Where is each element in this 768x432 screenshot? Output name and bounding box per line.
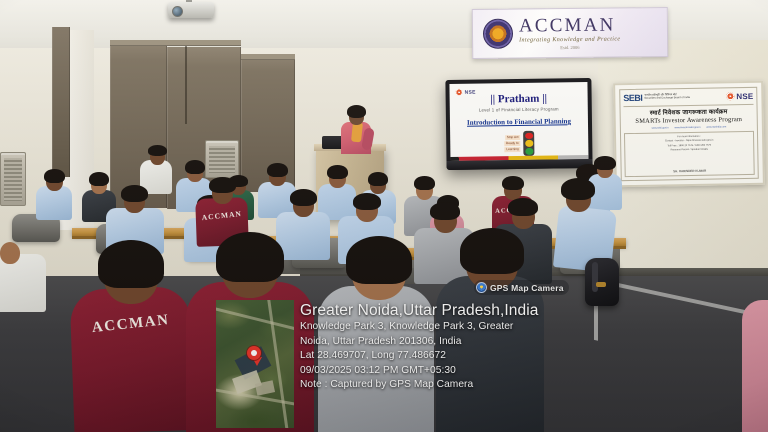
poster-link-2: www.investor.sebi.gov.in [675,126,701,129]
foreground-hair [216,232,284,282]
attendee-hair [368,172,388,186]
foreground-hair [460,228,524,274]
attendee-hair [508,198,538,216]
attendee-hair [414,176,435,190]
attendee-torso [36,186,72,220]
backpack-strap [592,262,598,292]
poster-frame: SEBI भारतीय प्रतिभूति और विनिमय बोर्ड Se… [619,87,759,181]
blind-headrail-1 [110,40,241,46]
ac-grille [4,158,22,201]
attendee-hair [594,156,616,170]
gps-coordinates: Lat 28.469707, Long 77.486672 [300,349,720,363]
slide-subtitle: Level 1 of Financial Literacy Program [450,106,588,113]
foreground-jersey-left: ACCMAN [70,286,195,432]
jersey-accman-text: ACCMAN [70,310,191,339]
gps-map-camera-photo: ACCMAN Integrating Knowledge and Practic… [0,0,768,432]
traffic-light-label-3: Learning [504,147,520,152]
window-ac-unit-right [205,140,239,178]
attendee-hair [121,185,148,202]
sebi-wordmark: SEBI [623,93,642,103]
sebi-sublabel-english: Securities and Exchange Board of India [644,97,690,100]
attendee-torso [276,212,330,260]
gps-badge-label: GPS Map Camera [490,283,564,293]
window-ac-unit-left [0,152,26,206]
accman-banner-established: Estd. 2006 [519,45,620,51]
attendee-hair [44,169,65,183]
sebi-sublabel: भारतीय प्रतिभूति और विनिमय बोर्ड Securit… [644,94,690,100]
traffic-light-green [525,148,533,155]
backpack-buckle [596,282,606,287]
poster-links: www.sebi.gov.in www.investor.sebi.gov.in… [652,125,727,129]
attendee-hair [327,165,348,179]
traffic-light-label-1: Stop Act [505,135,521,140]
nse-logo-icon [726,92,734,100]
foreground-torso-right-edge [742,300,768,432]
slide-screen: NSE || Pratham || Level 1 of Financial L… [449,82,588,161]
nse-logo: NSE [726,91,753,100]
gps-address-line-2: Noida, Uttar Pradesh 201306, India [300,335,720,349]
poster-link-3: www.nseindia.com [706,125,726,128]
gps-place-name: Greater Noida,Uttar Pradesh,India [300,302,720,319]
traffic-light-labels: Stop Act Ready to Learning [504,135,521,153]
foreground-hair [346,236,412,284]
attendee-hair [267,163,288,177]
attendee-hair [290,189,317,206]
sebi-logo: SEBI भारतीय प्रतिभूति और विनिमय बोर्ड Se… [623,92,690,103]
roller-blind-far [52,27,70,177]
poster-title-english: SMARTs Investor Awareness Program [635,116,742,125]
accman-banner-title: ACCMAN [519,15,621,35]
attendee-hair [185,160,205,174]
presentation-display: NSE || Pratham || Level 1 of Financial L… [445,78,592,170]
ac-grille [209,146,235,173]
nse-wordmark: NSE [736,91,753,100]
jersey-accman-text: ACCMAN [195,208,248,222]
foreground-hair [98,240,164,288]
poster-divider [623,103,753,106]
attendee-hair [561,178,595,200]
poster-logos: SEBI भारतीय प्रतिभूति और विनिमय बोर्ड Se… [623,91,753,103]
gps-map-camera-badge: GPS Map Camera [474,280,569,295]
accman-banner-tagline: Integrating Knowledge and Practice [519,36,620,43]
poster-details-box: For more information : Contact - Investo… [624,130,755,177]
sebi-nse-poster: SEBI भारतीय प्रतिभूति और विनिमय बोर्ड Se… [613,81,765,188]
traffic-light-red [525,132,533,139]
map-pin-center [251,350,257,356]
accman-banner: ACCMAN Integrating Knowledge and Practic… [472,7,669,59]
slide-title: || Pratham || [450,92,588,106]
traffic-light-yellow [525,140,533,147]
gps-overlay-text: Greater Noida,Uttar Pradesh,India Knowle… [300,302,720,393]
attendee-hair [502,176,524,190]
poster-body-line-4: Resource Person / Speaker Details [671,148,708,152]
poster-signature: SH. HARINDER KUMAR [673,169,706,174]
traffic-light-icon [523,131,534,156]
gps-timestamp: 09/03/2025 03:12 PM GMT+05:30 [300,364,720,378]
blind-cord[interactable] [185,46,187,124]
attendee-head [0,242,20,264]
attendee-hair [209,177,236,193]
poster-body-line-1: For more information : [677,134,701,138]
slide-traffic-light-graphic: Stop Act Ready to Learning [450,130,588,157]
attendee-hair [89,172,109,186]
traffic-light-label-2: Ready to [504,141,521,146]
attendee-hair [353,193,381,210]
slide-content: || Pratham || Level 1 of Financial Liter… [450,92,589,161]
attendee-hair [148,145,167,156]
gps-map-thumbnail[interactable] [216,300,294,428]
projector-lens-icon [172,6,183,17]
speaker-hair [347,105,366,118]
accman-banner-text: ACCMAN Integrating Knowledge and Practic… [519,15,621,51]
accman-seal-icon [483,19,513,49]
poster-link-1: www.sebi.gov.in [652,126,669,129]
gps-note: Note : Captured by GPS Map Camera [300,378,720,392]
gps-address-line-1: Knowledge Park 3, Knowledge Park 3, Grea… [300,320,720,334]
slide-heading: Introduction to Financial Planning [450,117,588,127]
map-pin-icon [476,282,487,293]
blind-headrail-2 [241,54,295,60]
attendee-hair [430,202,460,220]
poster-title-hindi: स्मार्ट निवेशक जागरूकता कार्यक्रम [650,107,728,116]
